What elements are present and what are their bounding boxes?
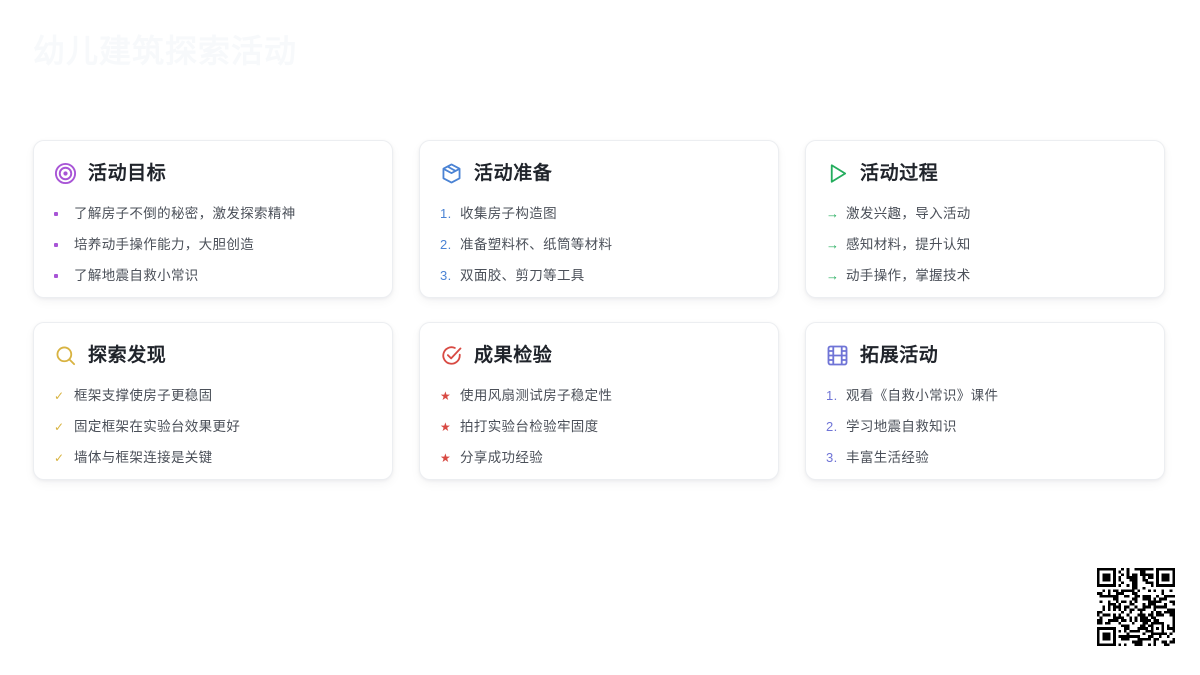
list-number: 1. xyxy=(440,198,460,229)
list-item[interactable]: 2. 学习地震自救知识 xyxy=(826,411,1144,442)
card-title: 活动目标 xyxy=(88,162,166,185)
list-item-text: 墙体与框架连接是关键 xyxy=(74,442,213,473)
list-number: 3. xyxy=(440,260,460,291)
arrow-icon: → xyxy=(826,229,846,260)
list-item-text: 学习地震自救知识 xyxy=(846,411,957,442)
list-item-text: 了解地震自救小常识 xyxy=(74,260,199,291)
list-item-text: 激发兴趣，导入活动 xyxy=(846,198,971,229)
star-icon: ★ xyxy=(440,381,460,412)
check-circle-icon xyxy=(440,344,463,367)
check-icon: ✓ xyxy=(54,443,74,474)
card-grid: 活动目标 了解房子不倒的秘密，激发探索精神 培养动手操作能力，大胆创造 了解地震… xyxy=(33,140,1167,480)
list-item-text: 固定框架在实验台效果更好 xyxy=(74,411,240,442)
card-list: 1. 观看《自救小常识》课件 2. 学习地震自救知识 3. 丰富生活经验 xyxy=(826,380,1144,473)
list-item-text: 培养动手操作能力，大胆创造 xyxy=(74,229,254,260)
package-box-icon xyxy=(440,162,463,185)
card-activity-preparation[interactable]: 活动准备 1. 收集房子构造图 2. 准备塑料杯、纸筒等材料 3. 双面胶、剪刀… xyxy=(419,140,779,298)
card-title: 探索发现 xyxy=(88,344,166,367)
magnifier-icon xyxy=(54,344,77,367)
list-item-text: 准备塑料杯、纸筒等材料 xyxy=(460,229,612,260)
card-list: ★ 使用风扇测试房子稳定性 ★ 拍打实验台检验牢固度 ★ 分享成功经验 xyxy=(440,380,758,473)
list-item-text: 框架支撑使房子更稳固 xyxy=(74,380,213,411)
list-item[interactable]: 1. 观看《自救小常识》课件 xyxy=(826,380,1144,411)
star-icon: ★ xyxy=(440,412,460,443)
card-header: 探索发现 xyxy=(54,340,372,370)
card-exploration-findings[interactable]: 探索发现 ✓ 框架支撑使房子更稳固 ✓ 固定框架在实验台效果更好 ✓ 墙体与框架… xyxy=(33,322,393,480)
bullet-dot-icon xyxy=(54,229,74,260)
list-item[interactable]: 3. 丰富生活经验 xyxy=(826,442,1144,473)
list-item[interactable]: ★ 拍打实验台检验牢固度 xyxy=(440,411,758,442)
list-item[interactable]: ✓ 墙体与框架连接是关键 xyxy=(54,442,372,473)
card-extension-activities[interactable]: 拓展活动 1. 观看《自救小常识》课件 2. 学习地震自救知识 3. 丰富生活经… xyxy=(805,322,1165,480)
list-item[interactable]: 1. 收集房子构造图 xyxy=(440,198,758,229)
card-header: 活动过程 xyxy=(826,158,1144,188)
list-number: 3. xyxy=(826,442,846,473)
card-results-verification[interactable]: 成果检验 ★ 使用风扇测试房子稳定性 ★ 拍打实验台检验牢固度 ★ 分享成功经验 xyxy=(419,322,779,480)
list-item[interactable]: 了解房子不倒的秘密，激发探索精神 xyxy=(54,198,372,229)
list-item[interactable]: ✓ 框架支撑使房子更稳固 xyxy=(54,380,372,411)
list-item-text: 双面胶、剪刀等工具 xyxy=(460,260,585,291)
list-item-text: 丰富生活经验 xyxy=(846,442,929,473)
list-item[interactable]: → 感知材料，提升认知 xyxy=(826,229,1144,260)
list-item[interactable]: ★ 使用风扇测试房子稳定性 xyxy=(440,380,758,411)
card-list: 了解房子不倒的秘密，激发探索精神 培养动手操作能力，大胆创造 了解地震自救小常识 xyxy=(54,198,372,291)
list-item-text: 使用风扇测试房子稳定性 xyxy=(460,380,612,411)
card-header: 拓展活动 xyxy=(826,340,1144,370)
list-item[interactable]: ★ 分享成功经验 xyxy=(440,442,758,473)
list-item[interactable]: → 激发兴趣，导入活动 xyxy=(826,198,1144,229)
list-item-text: 了解房子不倒的秘密，激发探索精神 xyxy=(74,198,296,229)
card-list: ✓ 框架支撑使房子更稳固 ✓ 固定框架在实验台效果更好 ✓ 墙体与框架连接是关键 xyxy=(54,380,372,473)
list-item-text: 收集房子构造图 xyxy=(460,198,557,229)
list-item-text: 分享成功经验 xyxy=(460,442,543,473)
list-item[interactable]: 3. 双面胶、剪刀等工具 xyxy=(440,260,758,291)
card-list: 1. 收集房子构造图 2. 准备塑料杯、纸筒等材料 3. 双面胶、剪刀等工具 xyxy=(440,198,758,291)
play-triangle-icon xyxy=(826,162,849,185)
star-icon: ★ xyxy=(440,443,460,474)
card-activity-process[interactable]: 活动过程 → 激发兴趣，导入活动 → 感知材料，提升认知 → 动手操作，掌握技术 xyxy=(805,140,1165,298)
target-icon xyxy=(54,162,77,185)
card-header: 活动准备 xyxy=(440,158,758,188)
qr-code[interactable] xyxy=(1097,568,1175,646)
card-title: 成果检验 xyxy=(474,344,552,367)
card-title: 活动过程 xyxy=(860,162,938,185)
list-item[interactable]: 2. 准备塑料杯、纸筒等材料 xyxy=(440,229,758,260)
list-item-text: 观看《自救小常识》课件 xyxy=(846,380,998,411)
list-number: 2. xyxy=(826,411,846,442)
arrow-icon: → xyxy=(826,198,846,229)
card-header: 活动目标 xyxy=(54,158,372,188)
list-item[interactable]: → 动手操作，掌握技术 xyxy=(826,260,1144,291)
card-activity-goals[interactable]: 活动目标 了解房子不倒的秘密，激发探索精神 培养动手操作能力，大胆创造 了解地震… xyxy=(33,140,393,298)
bullet-dot-icon xyxy=(54,198,74,229)
list-item-text: 动手操作，掌握技术 xyxy=(846,260,971,291)
list-number: 1. xyxy=(826,380,846,411)
check-icon: ✓ xyxy=(54,381,74,412)
list-item[interactable]: ✓ 固定框架在实验台效果更好 xyxy=(54,411,372,442)
check-icon: ✓ xyxy=(54,412,74,443)
page-title: 幼儿建筑探索活动 xyxy=(33,29,297,73)
list-item[interactable]: 了解地震自救小常识 xyxy=(54,260,372,291)
list-item-text: 感知材料，提升认知 xyxy=(846,229,971,260)
arrow-icon: → xyxy=(826,260,846,291)
card-title: 拓展活动 xyxy=(860,344,938,367)
list-item[interactable]: 培养动手操作能力，大胆创造 xyxy=(54,229,372,260)
film-strip-icon xyxy=(826,344,849,367)
card-title: 活动准备 xyxy=(474,162,552,185)
card-header: 成果检验 xyxy=(440,340,758,370)
list-item-text: 拍打实验台检验牢固度 xyxy=(460,411,599,442)
list-number: 2. xyxy=(440,229,460,260)
bullet-dot-icon xyxy=(54,260,74,291)
card-list: → 激发兴趣，导入活动 → 感知材料，提升认知 → 动手操作，掌握技术 xyxy=(826,198,1144,291)
